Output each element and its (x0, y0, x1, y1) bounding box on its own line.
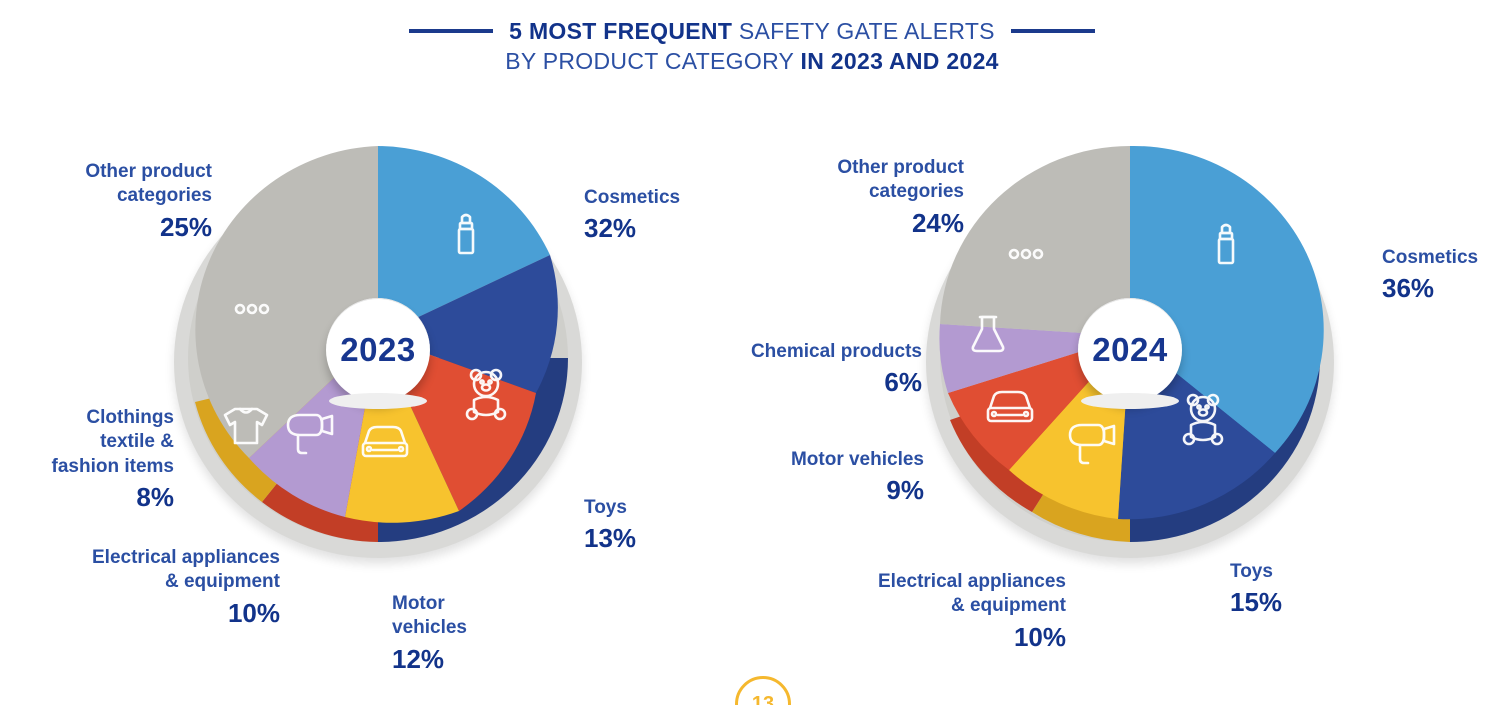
label-pct: 36% (1382, 272, 1478, 305)
label-text-line1: Cosmetics (1382, 247, 1478, 268)
label-pct: 24% (732, 207, 964, 240)
label-text-line1: Clothings (86, 407, 174, 428)
label-other-2024: Other product categories 24% (732, 156, 964, 240)
pie-chart-2024: 2024 Other product categories 24% Chemic… (752, 118, 1504, 705)
title-line-2: BY PRODUCT CATEGORY IN 2023 AND 2024 (0, 48, 1504, 76)
charts-container: 2023 Other product categories 25% Clothi… (0, 118, 1504, 705)
label-pct: 10% (0, 597, 280, 630)
title-strong-1: 5 MOST FREQUENT (509, 18, 732, 44)
label-pct: 8% (0, 481, 174, 514)
label-pct: 9% (738, 474, 924, 507)
label-clothings-2023: Clothings textile & fashion items 8% (0, 406, 174, 514)
pie-2023-graphic: 2023 (168, 140, 588, 560)
label-text-line1: Electrical appliances (92, 547, 280, 568)
label-text-line1: Motor vehicles (791, 449, 924, 470)
title-strong-2: IN 2023 AND 2024 (801, 48, 999, 74)
label-text-line1: Cosmetics (584, 187, 680, 208)
center-badge-2024: 2024 (1078, 298, 1182, 402)
label-text-line2: & equipment (165, 571, 280, 592)
label-text-line2: textile & (100, 431, 174, 452)
label-pct: 13% (584, 522, 636, 555)
label-text-line1: Toys (584, 497, 627, 518)
label-electrical-2024: Electrical appliances & equipment 10% (804, 570, 1066, 654)
label-pct: 15% (1230, 586, 1282, 619)
center-badge-2023: 2023 (326, 298, 430, 402)
label-text-line1: Other product (85, 161, 212, 182)
label-text-line2: categories (117, 185, 212, 206)
label-electrical-2023: Electrical appliances & equipment 10% (0, 546, 280, 630)
title-rule-right (1011, 29, 1095, 33)
page-title: 5 MOST FREQUENT SAFETY GATE ALERTS BY PR… (0, 18, 1504, 76)
title-line-1: 5 MOST FREQUENT SAFETY GATE ALERTS (0, 18, 1504, 44)
label-text-line3: fashion items (52, 456, 174, 477)
label-pct: 12% (392, 643, 467, 676)
title-rule-left (409, 29, 493, 33)
label-pct: 6% (690, 366, 922, 399)
label-text-line1: Motor (392, 593, 445, 614)
infographic-page: 5 MOST FREQUENT SAFETY GATE ALERTS BY PR… (0, 0, 1504, 705)
label-toys-2024: Toys 15% (1230, 560, 1282, 620)
label-motor-2023: Motor vehicles 12% (392, 592, 467, 676)
label-pct: 25% (0, 211, 212, 244)
label-motor-2024: Motor vehicles 9% (738, 448, 924, 508)
label-text-line1: Toys (1230, 561, 1273, 582)
label-text-line1: Electrical appliances (878, 571, 1066, 592)
label-chemical-2024: Chemical products 6% (690, 340, 922, 400)
pie-2024-graphic: 2024 (920, 140, 1340, 560)
label-cosmetics-2023: Cosmetics 32% (584, 186, 680, 246)
title-light-1: SAFETY GATE ALERTS (739, 18, 995, 44)
label-text-line1: Other product (837, 157, 964, 178)
label-text-line1: Chemical products (751, 341, 922, 362)
label-toys-2023: Toys 13% (584, 496, 636, 556)
label-other-2023: Other product categories 25% (0, 160, 212, 244)
label-pct: 32% (584, 212, 680, 245)
label-pct: 10% (804, 621, 1066, 654)
label-text-line2: & equipment (951, 595, 1066, 616)
label-cosmetics-2024: Cosmetics 36% (1382, 246, 1478, 306)
title-light-2: BY PRODUCT CATEGORY (505, 48, 794, 74)
label-text-line2: vehicles (392, 617, 467, 638)
label-text-line2: categories (869, 181, 964, 202)
pie-chart-2023: 2023 Other product categories 25% Clothi… (0, 118, 752, 705)
